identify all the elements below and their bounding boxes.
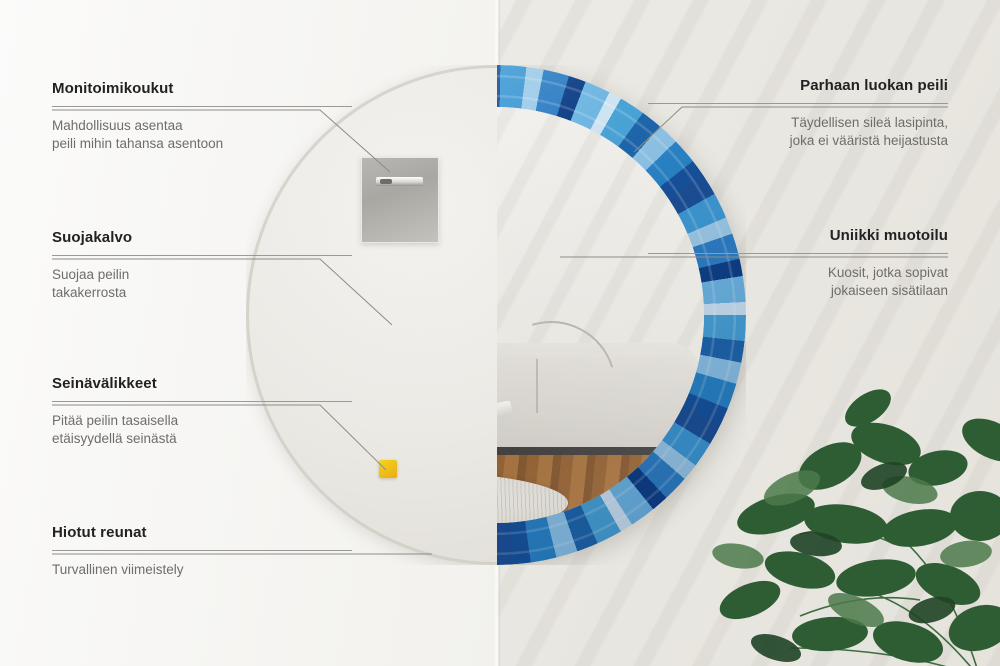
mounting-hook-plate	[361, 157, 439, 243]
mounting-hook-icon	[376, 177, 423, 186]
callout-unique-design: Uniikki muotoilu Kuosit, jotka sopivat j…	[648, 227, 948, 300]
callout-body: Pitää peilin tasaisella etäisyydellä sei…	[52, 412, 352, 448]
callout-rule	[52, 106, 352, 107]
callout-title: Monitoimikoukut	[52, 80, 352, 97]
callout-title: Hiotut reunat	[52, 524, 352, 541]
callout-polished-edges: Hiotut reunat Turvallinen viimeistely	[52, 524, 352, 579]
callout-rule	[648, 103, 948, 104]
wall-spacer-pad	[379, 460, 397, 478]
callout-best-class-mirror: Parhaan luokan peili Täydellisen sileä l…	[648, 77, 948, 150]
callout-protective-film: Suojakalvo Suojaa peilin takakerrosta	[52, 229, 352, 302]
callout-title: Parhaan luokan peili	[648, 77, 948, 94]
foliage-decoration	[680, 348, 1000, 666]
infographic-stage: Monitoimikoukut Mahdollisuus asentaa pei…	[0, 0, 1000, 666]
callout-rule	[52, 550, 352, 551]
callout-rule	[52, 255, 352, 256]
callout-title: Uniikki muotoilu	[648, 227, 948, 244]
callout-body: Kuosit, jotka sopivat jokaiseen sisätila…	[648, 264, 948, 300]
callout-rule	[648, 253, 948, 254]
callout-body: Suojaa peilin takakerrosta	[52, 266, 352, 302]
callout-rule	[52, 401, 352, 402]
hook-slot	[380, 179, 392, 184]
callout-body: Mahdollisuus asentaa peili mihin tahansa…	[52, 117, 352, 153]
callout-title: Seinävälikkeet	[52, 375, 352, 392]
callout-body: Täydellisen sileä lasipinta, joka ei vää…	[648, 114, 948, 150]
callout-title: Suojakalvo	[52, 229, 352, 246]
callout-body: Turvallinen viimeistely	[52, 561, 352, 579]
callout-wall-spacers: Seinävälikkeet Pitää peilin tasaisella e…	[52, 375, 352, 448]
callout-mounting-hooks: Monitoimikoukut Mahdollisuus asentaa pei…	[52, 80, 352, 153]
